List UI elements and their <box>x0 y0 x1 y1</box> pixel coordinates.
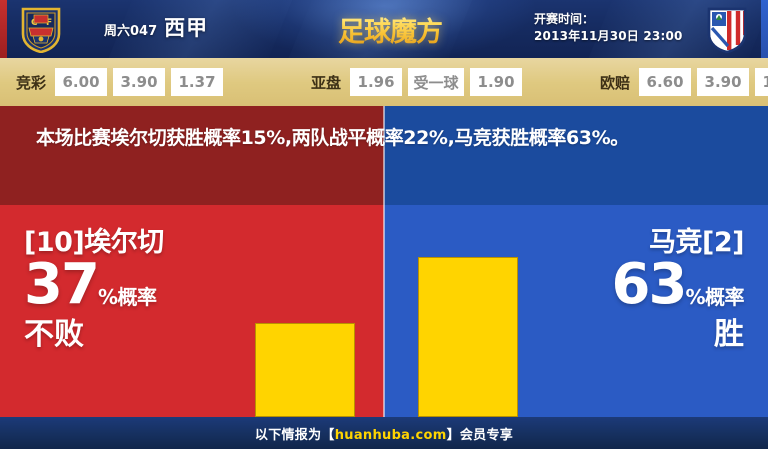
home-team-block: [10]埃尔切 37 %概率 不败 <box>24 227 164 354</box>
header-left-red-stripe <box>0 0 7 58</box>
match-prediction-infographic: C F <box>0 0 768 449</box>
home-headline-band <box>0 106 384 205</box>
away-headline-band <box>384 106 768 205</box>
header-bar: C F <box>0 0 768 58</box>
match-label: 周六047 西甲 <box>104 12 208 42</box>
footer-prefix: 以下情报为【 <box>255 428 335 443</box>
home-probability-row: 37 %概率 <box>24 260 164 310</box>
handicap-cell-away[interactable]: 1.90 <box>470 68 522 96</box>
prediction-headline: 本场比赛埃尔切获胜概率15%,两队战平概率22%,马竞获胜概率63%。 <box>36 123 736 154</box>
odds-group-label: 竞彩 <box>16 72 46 93</box>
kickoff-value: 2013年11月30日 23:00 <box>534 28 683 45</box>
home-probability-unit: %概率 <box>98 287 157 310</box>
home-team-crest-icon: C F <box>20 6 62 53</box>
footer-bar: 以下情报为【huanhuba.com】会员专享 <box>0 417 768 449</box>
away-team-block: 马竞[2] 63 %概率 胜 <box>612 227 744 354</box>
footer-site-link[interactable]: huanhuba.com <box>335 428 447 443</box>
odds-group-jingcai: 竞彩 6.00 3.90 1.37 <box>16 68 223 96</box>
match-round-number: 周六047 <box>104 20 157 39</box>
odds-group-european: 欧赔 6.60 3.90 1.51 <box>600 68 768 96</box>
brand-logo[interactable]: 足球魔方 <box>330 8 450 50</box>
kickoff-time-block: 开赛时间： 2013年11月30日 23:00 <box>534 11 683 45</box>
away-probability-value: 63 <box>612 260 686 310</box>
home-probability-bar <box>255 323 355 417</box>
odds-group-asian-handicap: 亚盘 1.96 受一球 1.90 <box>311 68 522 96</box>
odds-cell-home[interactable]: 6.00 <box>55 68 107 96</box>
odds-group-label: 亚盘 <box>311 72 341 93</box>
odds-cell-away[interactable]: 1.37 <box>171 68 223 96</box>
euro-cell-away[interactable]: 1.51 <box>755 68 768 96</box>
league-name: 西甲 <box>164 12 208 42</box>
euro-cell-draw[interactable]: 3.90 <box>697 68 749 96</box>
euro-cell-home[interactable]: 6.60 <box>639 68 691 96</box>
brand-logo-text: 足球魔方 <box>338 10 442 49</box>
away-probability-row: 63 %概率 <box>612 260 744 310</box>
away-outcome-label: 胜 <box>612 316 744 354</box>
odds-cell-draw[interactable]: 3.90 <box>113 68 165 96</box>
home-outcome-label: 不败 <box>24 316 164 354</box>
away-probability-bar <box>418 257 518 417</box>
footer-notice: 以下情报为【huanhuba.com】会员专享 <box>255 424 513 443</box>
odds-bar: 竞彩 6.00 3.90 1.37 亚盘 1.96 受一球 1.90 欧赔 6.… <box>0 58 768 106</box>
kickoff-label: 开赛时间： <box>534 11 683 28</box>
odds-group-label: 欧赔 <box>600 72 630 93</box>
header-right-blue-stripe <box>761 0 768 58</box>
away-team-crest-icon <box>706 6 748 53</box>
handicap-cell-home[interactable]: 1.96 <box>350 68 402 96</box>
probability-chart-area: [10]埃尔切 37 %概率 不败 马竞[2] 63 %概率 胜 <box>0 106 768 417</box>
home-probability-value: 37 <box>24 260 98 310</box>
handicap-line[interactable]: 受一球 <box>408 68 464 96</box>
away-probability-unit: %概率 <box>685 287 744 310</box>
footer-suffix: 】会员专享 <box>447 428 514 443</box>
